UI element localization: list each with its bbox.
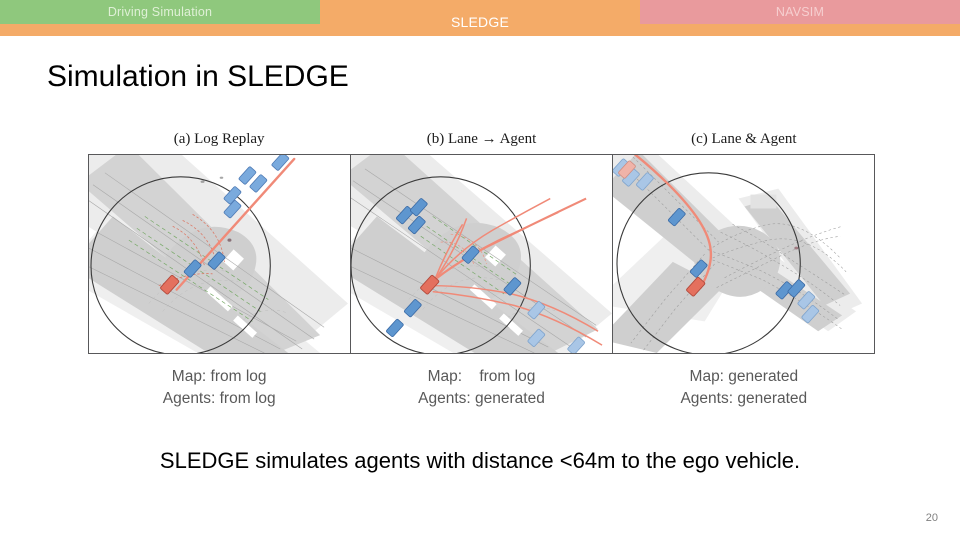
tab-driving-simulation[interactable]: Driving Simulation bbox=[0, 0, 320, 24]
page-title: Simulation in SLEDGE bbox=[47, 60, 349, 94]
figure-sublabels: Map: from log Agents: from log Map: from… bbox=[88, 366, 875, 410]
sublabel-agents: Agents: generated bbox=[613, 388, 875, 410]
figure-captions: (a) Log Replay (b) Lane → Agent (c) Lane… bbox=[88, 126, 875, 154]
bottom-statement: SLEDGE simulates agents with distance <6… bbox=[0, 448, 960, 474]
header-bar: Driving Simulation SLEDGE NAVSIM bbox=[0, 0, 960, 36]
figure-caption-a: (a) Log Replay bbox=[88, 126, 350, 154]
misc-marker bbox=[794, 247, 798, 250]
panel-log-replay-map bbox=[89, 155, 350, 353]
tab-navsim-label: NAVSIM bbox=[776, 5, 824, 19]
tab-sledge[interactable]: SLEDGE bbox=[320, 0, 640, 36]
sublabel-log-replay: Map: from log Agents: from log bbox=[88, 366, 350, 410]
panel-lane-and-agent bbox=[612, 155, 874, 353]
figure-frame bbox=[88, 154, 875, 354]
sublabel-agents: Agents: from log bbox=[88, 388, 350, 410]
tab-driving-simulation-label: Driving Simulation bbox=[108, 5, 212, 19]
sublabel-map: Map: from log bbox=[350, 366, 612, 388]
figure-caption-b: (b) Lane → Agent bbox=[350, 126, 612, 154]
sublabel-map: Map: generated bbox=[613, 366, 875, 388]
panel-lane-to-agent bbox=[350, 155, 612, 353]
sublabel-lane-to-agent: Map: from log Agents: generated bbox=[350, 366, 612, 410]
tab-sledge-label: SLEDGE bbox=[451, 14, 509, 30]
panel-lane-to-agent-map bbox=[351, 155, 612, 353]
sublabel-lane-and-agent: Map: generated Agents: generated bbox=[613, 366, 875, 410]
sublabel-map: Map: from log bbox=[88, 366, 350, 388]
panel-log-replay bbox=[89, 155, 350, 353]
figure-caption-c: (c) Lane & Agent bbox=[613, 126, 875, 154]
page-number: 20 bbox=[926, 512, 938, 524]
sublabel-agents: Agents: generated bbox=[350, 388, 612, 410]
figure-block: (a) Log Replay (b) Lane → Agent (c) Lane… bbox=[88, 126, 875, 410]
panel-lane-and-agent-map bbox=[613, 155, 874, 353]
tab-navsim[interactable]: NAVSIM bbox=[640, 0, 960, 24]
